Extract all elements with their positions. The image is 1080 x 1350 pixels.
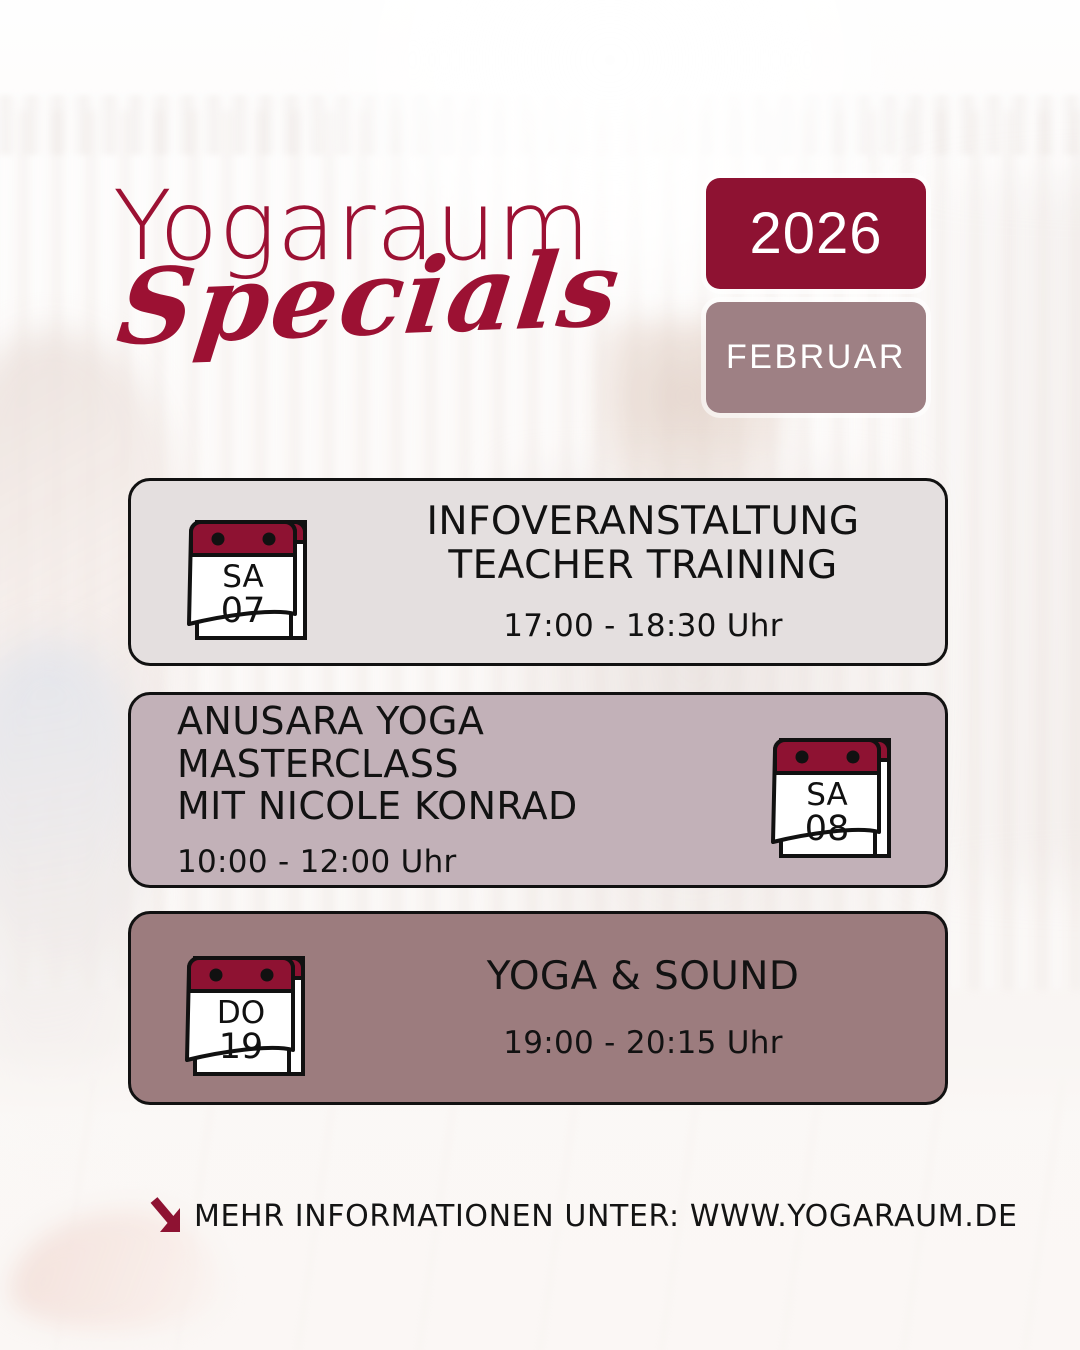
calendar-weekday-1: SA: [222, 559, 263, 595]
calendar-icon-1: SA 07: [173, 498, 323, 646]
event-card-1[interactable]: SA 07 INFOVERANSTALTUNG TEACHER TRAINING…: [128, 478, 948, 666]
year-badge: 2026: [706, 178, 926, 289]
calendar-day-2: 08: [805, 809, 850, 849]
event-card-2[interactable]: ANUSARA YOGA MASTERCLASS MIT NICOLE KONR…: [128, 692, 948, 888]
event-time-3: 19:00 - 20:15 Uhr: [341, 1025, 945, 1061]
event-title-1: INFOVERANSTALTUNG TEACHER TRAINING: [341, 500, 945, 587]
calendar-day-3: 19: [219, 1027, 264, 1067]
brand-block: Yogaraum Specials: [113, 178, 733, 360]
event-title-3: YOGA & SOUND: [341, 955, 945, 999]
brand-script-word: Specials: [113, 232, 743, 359]
footer-text: MEHR INFORMATIONEN UNTER: WWW.YOGARAUM.D…: [194, 1199, 1018, 1234]
calendar-weekday-3: DO: [217, 995, 265, 1031]
event-text-1: INFOVERANSTALTUNG TEACHER TRAINING 17:00…: [323, 500, 945, 643]
event-text-2: ANUSARA YOGA MASTERCLASS MIT NICOLE KONR…: [131, 700, 757, 880]
event-time-1: 17:00 - 18:30 Uhr: [341, 608, 945, 644]
event-title-2: ANUSARA YOGA MASTERCLASS MIT NICOLE KONR…: [177, 700, 757, 828]
event-text-3: YOGA & SOUND 19:00 - 20:15 Uhr: [321, 955, 945, 1061]
poster: Yogaraum Specials 2026 FEBRUAR: [0, 0, 1080, 1350]
event-time-2: 10:00 - 12:00 Uhr: [177, 844, 757, 880]
calendar-weekday-2: SA: [806, 777, 847, 813]
calendar-icon-3: DO 19: [171, 934, 321, 1082]
event-card-3[interactable]: DO 19 YOGA & SOUND 19:00 - 20:15 Uhr: [128, 911, 948, 1105]
poster-content: Yogaraum Specials 2026 FEBRUAR: [0, 0, 1080, 1350]
arrow-down-right-icon: [150, 1194, 188, 1238]
calendar-day-1: 07: [221, 591, 266, 631]
calendar-icon-2: SA 08: [757, 716, 907, 864]
footer: MEHR INFORMATIONEN UNTER: WWW.YOGARAUM.D…: [150, 1194, 1018, 1238]
month-badge: FEBRUAR: [706, 302, 926, 413]
